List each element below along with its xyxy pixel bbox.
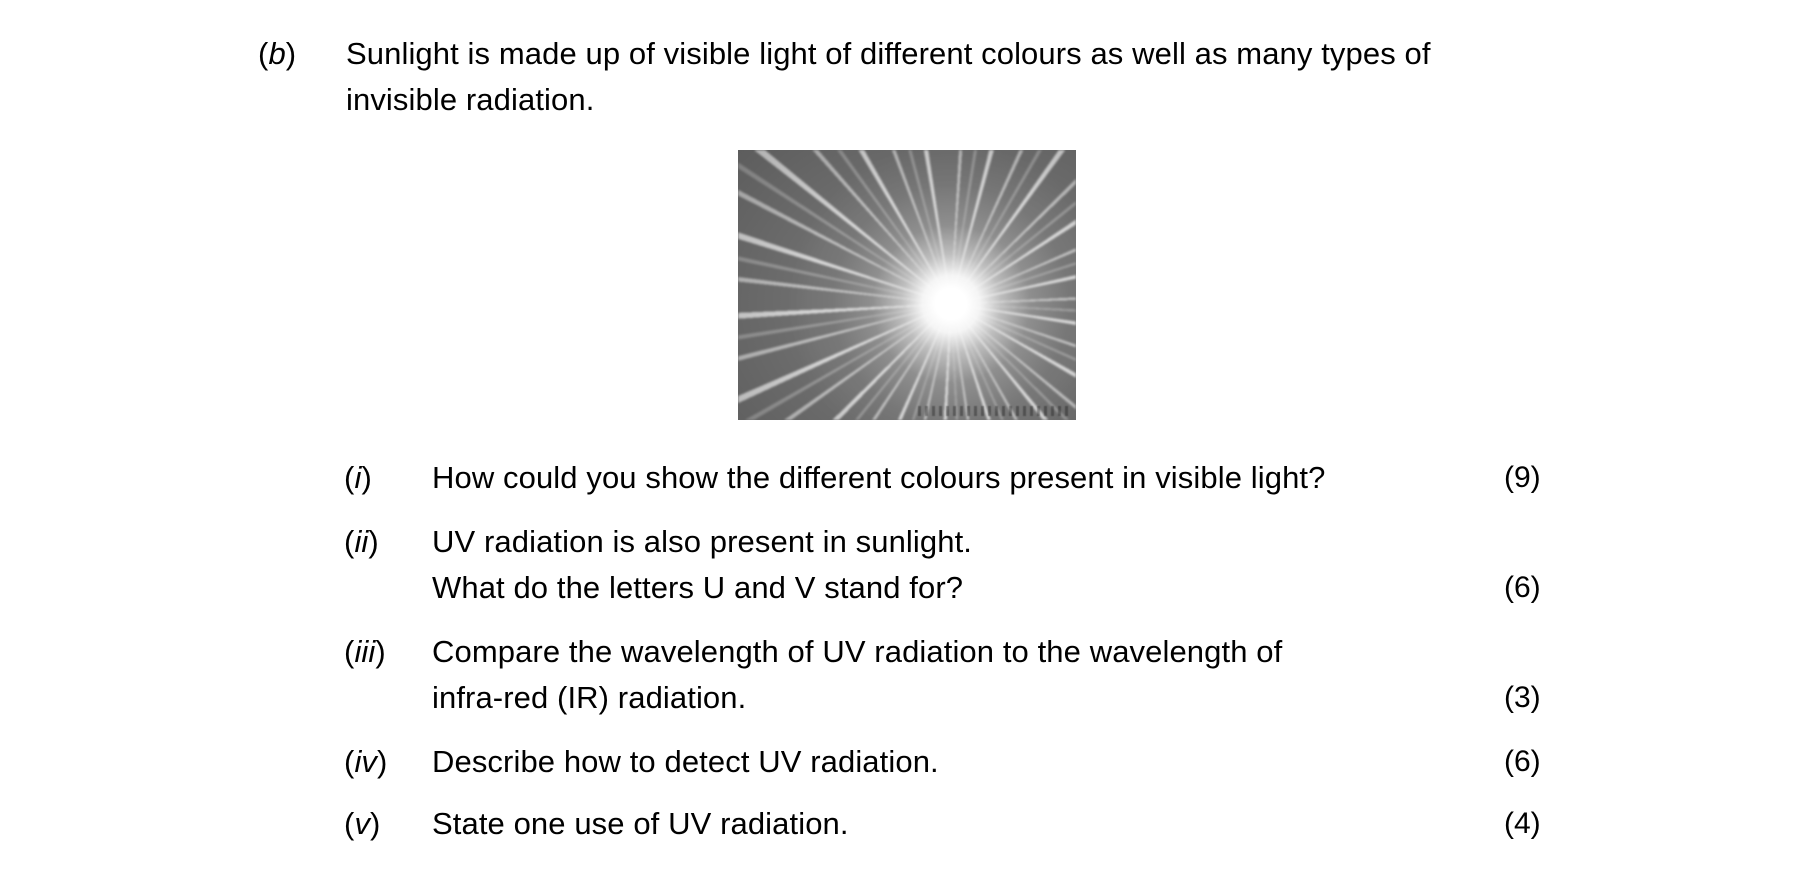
question-numeral: (iv) [344, 739, 432, 785]
numeral-close-paren: ) [370, 806, 380, 841]
numeral-value: v [354, 806, 370, 841]
numeral-close-paren: ) [375, 634, 385, 669]
part-label-close-paren: ) [286, 36, 296, 71]
numeral-open-paren: ( [344, 524, 354, 559]
question-text-line-1: Compare the wavelength of UV radiation t… [432, 634, 1282, 669]
part-stem-line-2: invisible radiation. [346, 77, 1558, 123]
question-text-line-1: How could you show the different colours… [432, 460, 1325, 495]
question-marks: (6) [1504, 565, 1654, 611]
list-item: (iv) Describe how to detect UV radiation… [344, 739, 1654, 785]
question-numeral: (iii) [344, 629, 432, 675]
question-numeral: (ii) [344, 519, 432, 565]
question-text: How could you show the different colours… [432, 455, 1504, 501]
question-marks: (4) [1504, 801, 1654, 847]
question-text-line-1: UV radiation is also present in sunlight… [432, 524, 972, 559]
numeral-close-paren: ) [361, 460, 371, 495]
part-stem-line-1: Sunlight is made up of visible light of … [346, 36, 1431, 71]
question-numeral: (v) [344, 801, 432, 847]
numeral-open-paren: ( [344, 806, 354, 841]
numeral-close-paren: ) [368, 524, 378, 559]
part-b-block: (b) Sunlight is made up of visible light… [258, 31, 1558, 123]
question-text: State one use of UV radiation. [432, 801, 1504, 847]
numeral-open-paren: ( [344, 634, 354, 669]
part-label-letter: b [268, 36, 285, 71]
part-label: (b) [258, 31, 346, 77]
question-marks: (9) [1504, 455, 1654, 501]
list-item: (v) State one use of UV radiation. (4) [344, 801, 1654, 847]
question-text-line-1: State one use of UV radiation. [432, 806, 849, 841]
numeral-value: ii [354, 524, 368, 559]
question-text: Compare the wavelength of UV radiation t… [432, 629, 1504, 721]
sunburst-image [738, 150, 1076, 420]
part-stem: Sunlight is made up of visible light of … [346, 31, 1558, 123]
numeral-open-paren: ( [344, 460, 354, 495]
list-item: (ii) UV radiation is also present in sun… [344, 519, 1654, 611]
question-marks: (6) [1504, 739, 1654, 785]
question-text-line-2: What do the letters U and V stand for? [432, 565, 1488, 611]
question-marks: (3) [1504, 675, 1654, 721]
numeral-value: iv [354, 744, 377, 779]
question-text: Describe how to detect UV radiation. [432, 739, 1504, 785]
numeral-close-paren: ) [377, 744, 387, 779]
question-text: UV radiation is also present in sunlight… [432, 519, 1504, 611]
sub-question-list: (i) How could you show the different col… [344, 455, 1654, 863]
sun-vignette-layer [738, 150, 1076, 420]
exam-question-page: (b) Sunlight is made up of visible light… [0, 0, 1818, 881]
list-item: (i) How could you show the different col… [344, 455, 1654, 501]
question-text-line-1: Describe how to detect UV radiation. [432, 744, 939, 779]
numeral-value: iii [354, 634, 375, 669]
question-numeral: (i) [344, 455, 432, 501]
image-watermark [918, 406, 1068, 416]
part-label-open-paren: ( [258, 36, 268, 71]
numeral-open-paren: ( [344, 744, 354, 779]
list-item: (iii) Compare the wavelength of UV radia… [344, 629, 1654, 721]
question-text-line-2: infra-red (IR) radiation. [432, 675, 1488, 721]
